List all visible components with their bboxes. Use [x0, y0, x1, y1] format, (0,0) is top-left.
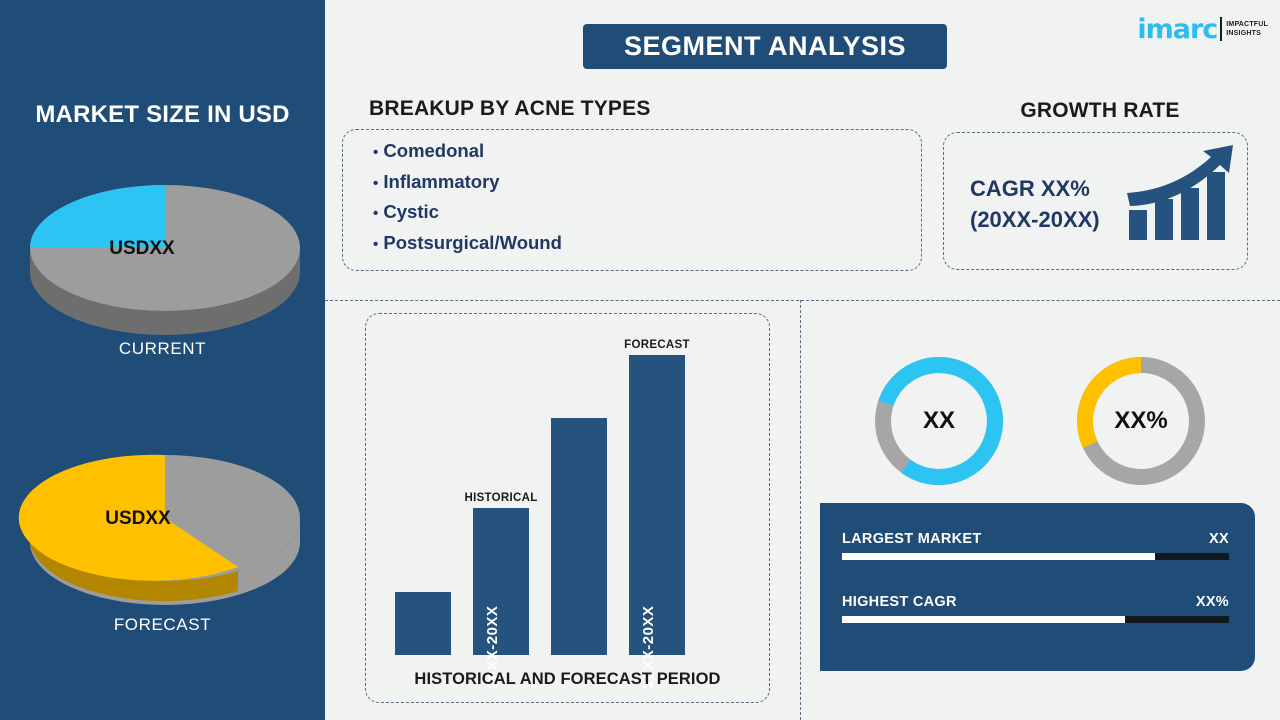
bar-rect-1	[395, 592, 451, 655]
acne-types-list: • Comedonal • Inflammatory • Cystic • Po…	[373, 137, 562, 259]
growth-bar-3	[1181, 188, 1199, 240]
page-title: SEGMENT ANALYSIS	[583, 24, 947, 69]
bar-rect-2: 20XX-20XX	[473, 508, 529, 655]
bullet-icon: •	[373, 236, 378, 253]
stat-label-highest-cagr: HIGHEST CAGR	[842, 594, 957, 610]
acne-types-heading: BREAKUP BY ACNE TYPES	[369, 97, 651, 121]
pie-chart-forecast: USDXX	[0, 436, 325, 611]
stat-line: LARGEST MARKET XX	[842, 531, 1229, 547]
bar-column-2: HISTORICAL 20XX-20XX	[473, 492, 529, 655]
bar-toplabel-2: HISTORICAL	[464, 492, 537, 504]
bullet-icon: •	[373, 205, 378, 222]
pie-forecast-label: USDXX	[105, 508, 171, 529]
pie-chart-current-block: USDXX CURRENT	[0, 160, 325, 359]
donut-2-value: XX%	[1070, 350, 1212, 492]
period-bar-chart: HISTORICAL 20XX-20XX FORECAST 20XX-20XX …	[365, 313, 770, 703]
growth-rate-heading: GROWTH RATE	[940, 99, 1260, 123]
growth-arrow-svg	[1125, 143, 1240, 248]
list-item: • Comedonal	[373, 137, 562, 168]
stat-row-largest-market: LARGEST MARKET XX	[842, 531, 1229, 560]
donut-chart-value: XX	[868, 350, 1010, 492]
stat-track-largest-market	[842, 553, 1229, 560]
bar-column-4: FORECAST 20XX-20XX	[629, 339, 685, 655]
logo-wordmark: imarc	[1137, 16, 1217, 43]
bullet-icon: •	[373, 175, 378, 192]
stat-value-largest-market: XX	[1209, 531, 1229, 547]
growth-arrow-chart-icon	[1125, 143, 1240, 248]
logo-tagline-line2: INSIGHTS	[1226, 29, 1268, 38]
donut-1-value: XX	[868, 350, 1010, 492]
horizontal-divider	[325, 300, 1280, 301]
logo-tagline-line1: IMPACTFUL	[1226, 20, 1268, 29]
growth-bar-2	[1155, 199, 1173, 240]
pie-chart-forecast-block: USDXX FORECAST	[0, 436, 325, 635]
bar-column-3	[551, 414, 607, 655]
stat-value-highest-cagr: XX%	[1196, 594, 1229, 610]
acne-item-label: Inflammatory	[383, 171, 499, 192]
acne-item-label: Postsurgical/Wound	[383, 232, 562, 253]
pie-current-svg: USDXX	[0, 160, 325, 335]
bar-toplabel-4: FORECAST	[624, 339, 690, 351]
cagr-text: CAGR XX% (20XX-20XX)	[970, 173, 1100, 235]
vertical-divider	[800, 300, 801, 720]
imarc-logo: imarc IMPACTFUL INSIGHTS	[1137, 12, 1268, 46]
growth-bar-4	[1207, 172, 1225, 240]
stat-line: HIGHEST CAGR XX%	[842, 594, 1229, 610]
sidebar-title: MARKET SIZE IN USD	[0, 101, 325, 129]
pie-forecast-svg: USDXX	[0, 436, 325, 611]
stat-track-highest-cagr	[842, 616, 1229, 623]
list-item: • Cystic	[373, 198, 562, 229]
growth-bar-1	[1129, 210, 1147, 240]
stat-fill-highest-cagr	[842, 616, 1125, 623]
period-bars: HISTORICAL 20XX-20XX FORECAST 20XX-20XX	[395, 355, 745, 655]
logo-tagline: IMPACTFUL INSIGHTS	[1226, 20, 1268, 38]
stat-label-largest-market: LARGEST MARKET	[842, 531, 982, 547]
pie-current-caption: CURRENT	[0, 339, 325, 359]
cagr-value: CAGR XX%	[970, 173, 1100, 204]
donut-chart-percent: XX%	[1070, 350, 1212, 492]
pie-current-label: USDXX	[109, 238, 175, 259]
pie-chart-current: USDXX	[0, 160, 325, 335]
logo-divider	[1220, 17, 1222, 41]
pie-forecast-caption: FORECAST	[0, 615, 325, 635]
list-item: • Inflammatory	[373, 168, 562, 199]
period-chart-xlabel: HISTORICAL AND FORECAST PERIOD	[365, 670, 770, 689]
donut-charts: XX XX%	[825, 350, 1255, 495]
market-size-sidebar: MARKET SIZE IN USD USDXX CURRENT USDXX	[0, 0, 325, 720]
bullet-icon: •	[373, 144, 378, 161]
acne-item-label: Cystic	[383, 201, 439, 222]
main-panel: SEGMENT ANALYSIS imarc IMPACTFUL INSIGHT…	[325, 0, 1280, 720]
stat-fill-largest-market	[842, 553, 1155, 560]
stat-row-highest-cagr: HIGHEST CAGR XX%	[842, 594, 1229, 623]
list-item: • Postsurgical/Wound	[373, 229, 562, 260]
bar-column-1	[395, 588, 451, 655]
cagr-period: (20XX-20XX)	[970, 204, 1100, 235]
bar-rect-4: 20XX-20XX	[629, 355, 685, 655]
acne-item-label: Comedonal	[383, 140, 484, 161]
key-metrics-card: LARGEST MARKET XX HIGHEST CAGR XX%	[820, 503, 1255, 671]
bar-rect-3	[551, 418, 607, 655]
